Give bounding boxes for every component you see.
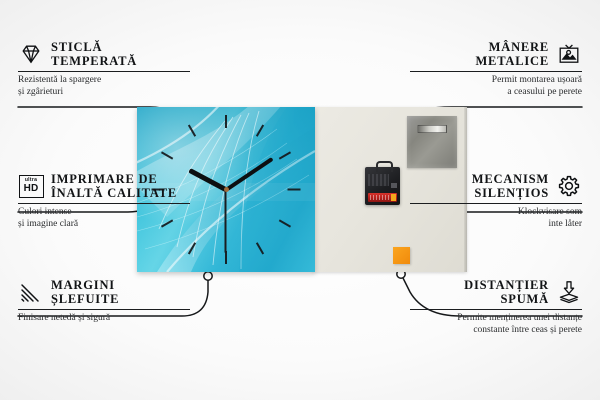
- feature-title: MECANISM SILENȚIOS: [472, 172, 549, 200]
- hour-tick: [256, 124, 264, 136]
- divider: [18, 71, 190, 72]
- hour-tick: [256, 242, 264, 254]
- hanging-loop: [376, 161, 393, 172]
- hour-tick: [188, 242, 196, 254]
- minute-hand: [225, 157, 274, 192]
- feature-title: STICLĂ TEMPERATĂ: [51, 40, 137, 68]
- diamond-icon: [18, 41, 44, 67]
- feature-title: DISTANȚIER SPUMĂ: [464, 278, 549, 306]
- divider: [410, 203, 582, 204]
- divider: [18, 203, 190, 204]
- movement-detail: [368, 174, 389, 186]
- feature-foam-spacer: DISTANȚIER SPUMĂ Permite menținerea unei…: [410, 278, 582, 336]
- gear-icon: [556, 173, 582, 199]
- foam-spacer: [393, 247, 410, 264]
- picture-hanger-icon: [556, 41, 582, 67]
- quartz-movement: [365, 167, 400, 205]
- hands-hub: [224, 187, 229, 192]
- hour-tick: [288, 189, 301, 191]
- hanger-slot: [417, 125, 447, 133]
- metal-hanger-plate: [407, 116, 457, 168]
- battery-label: [370, 195, 390, 200]
- ultra-hd-bottom-label: HD: [24, 184, 39, 194]
- feature-title: IMPRIMARE DE ÎNALTĂ CALITATE: [51, 172, 177, 200]
- hour-tick: [279, 151, 291, 159]
- hour-tick: [225, 115, 227, 128]
- polished-edge-icon: [18, 279, 44, 305]
- feature-subtitle: Rezistentă la spargere și zgârieturi: [18, 75, 190, 98]
- foam-spacer-icon: [556, 279, 582, 305]
- feature-metal-hangers: MÂNERE METALICE Permit montarea ușoară a…: [410, 40, 582, 98]
- feature-subtitle: Permit montarea ușoară a ceasului pe per…: [410, 75, 582, 98]
- second-hand: [225, 190, 227, 253]
- infographic-canvas: STICLĂ TEMPERATĂ Rezistentă la spargere …: [0, 0, 600, 400]
- hour-tick: [188, 124, 196, 136]
- hour-tick: [279, 219, 291, 227]
- feature-subtitle: Culori intense și imagine clară: [18, 207, 190, 230]
- ultra-hd-icon: ultra HD: [18, 173, 44, 199]
- movement-chip: [391, 183, 397, 188]
- hour-tick: [161, 151, 173, 159]
- feature-title: MARGINI ȘLEFUITE: [51, 278, 119, 306]
- hour-hand: [188, 168, 227, 192]
- feature-title: MÂNERE METALICE: [475, 40, 549, 68]
- feature-subtitle: Klockvisare som inte låter: [410, 207, 582, 230]
- feature-subtitle: Permite menținerea unei distanțe constan…: [410, 313, 582, 336]
- battery: [368, 193, 397, 202]
- feature-subtitle: Finisare netedă și sigură: [18, 313, 190, 325]
- divider: [410, 309, 582, 310]
- divider: [18, 309, 190, 310]
- feature-tempered-glass: STICLĂ TEMPERATĂ Rezistentă la spargere …: [18, 40, 190, 98]
- feature-silent-mechanism: MECANISM SILENȚIOS Klockvisare som inte …: [410, 172, 582, 230]
- feature-polished-edges: MARGINI ȘLEFUITE Finisare netedă și sigu…: [18, 278, 190, 325]
- connector-endpoint-3: [204, 272, 212, 280]
- feature-print-quality: ultra HD IMPRIMARE DE ÎNALTĂ CALITATE Cu…: [18, 172, 190, 230]
- divider: [410, 71, 582, 72]
